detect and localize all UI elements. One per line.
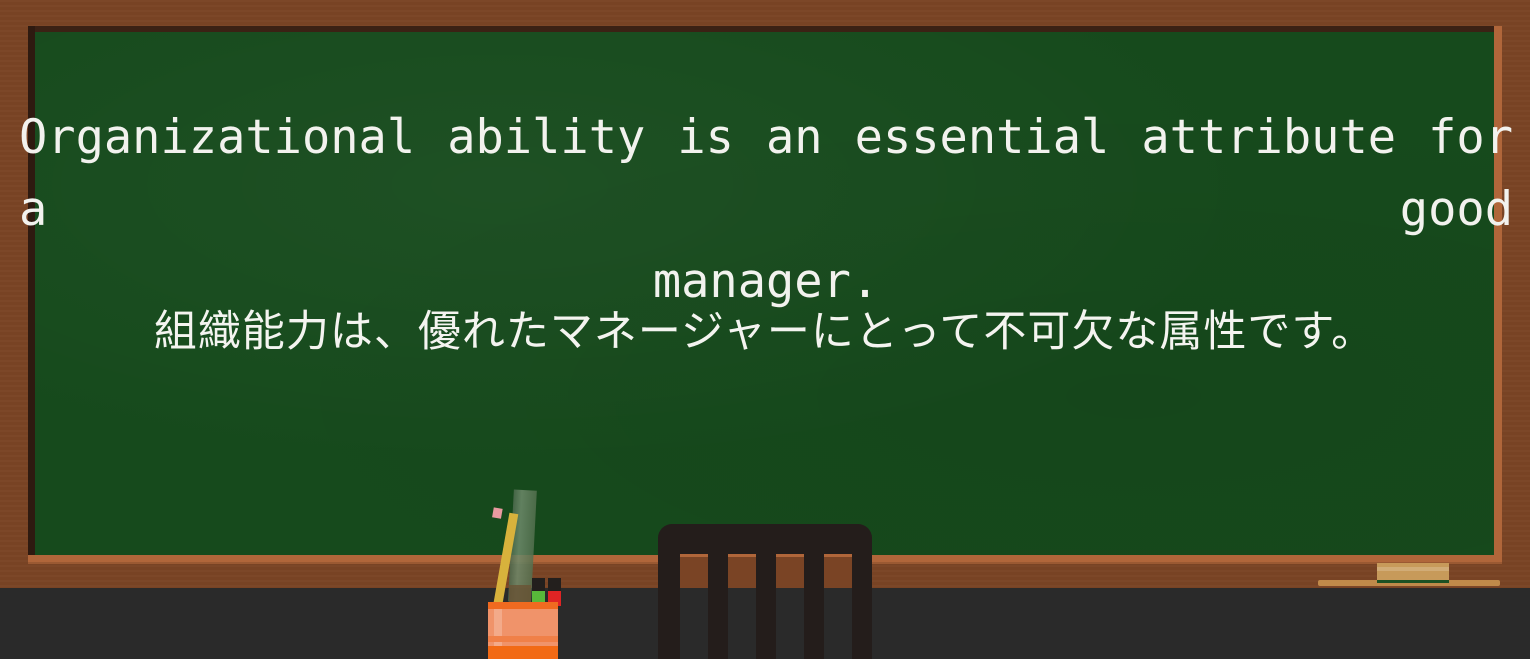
chalkboard-surface — [28, 26, 1502, 555]
frame-bevel-right — [1494, 26, 1502, 555]
cup-rim-band — [488, 602, 558, 609]
red-marker-cap — [548, 578, 561, 591]
chair-slat-gap-floor-2 — [728, 588, 756, 659]
pencil-cup — [488, 602, 558, 659]
chalkboard-scene: Organizational ability is an essential a… — [0, 0, 1530, 659]
chair-slat-gap-4 — [824, 554, 852, 588]
chair-slat-gap-floor-3 — [776, 588, 804, 659]
classroom-chair — [658, 524, 872, 659]
chalkboard-texture — [28, 26, 1502, 555]
pencil-eraser-tip — [492, 507, 503, 518]
chair-slat-gap-1 — [680, 554, 708, 588]
frame-bevel-top — [28, 26, 1502, 32]
frame-bevel-left — [28, 26, 35, 555]
pencil-cup-group — [480, 490, 580, 659]
cup-bottom-band — [488, 646, 558, 659]
chair-slat-gap-3 — [776, 554, 804, 588]
chalkboard-eraser — [1377, 563, 1449, 583]
chair-slat-gap-floor-4 — [824, 588, 852, 659]
chair-slat-gap-floor-1 — [680, 588, 708, 659]
eraser-highlight — [1377, 567, 1449, 571]
green-marker-cap — [532, 578, 545, 591]
cup-middle-band — [488, 636, 558, 642]
chair-slat-gap-2 — [728, 554, 756, 588]
